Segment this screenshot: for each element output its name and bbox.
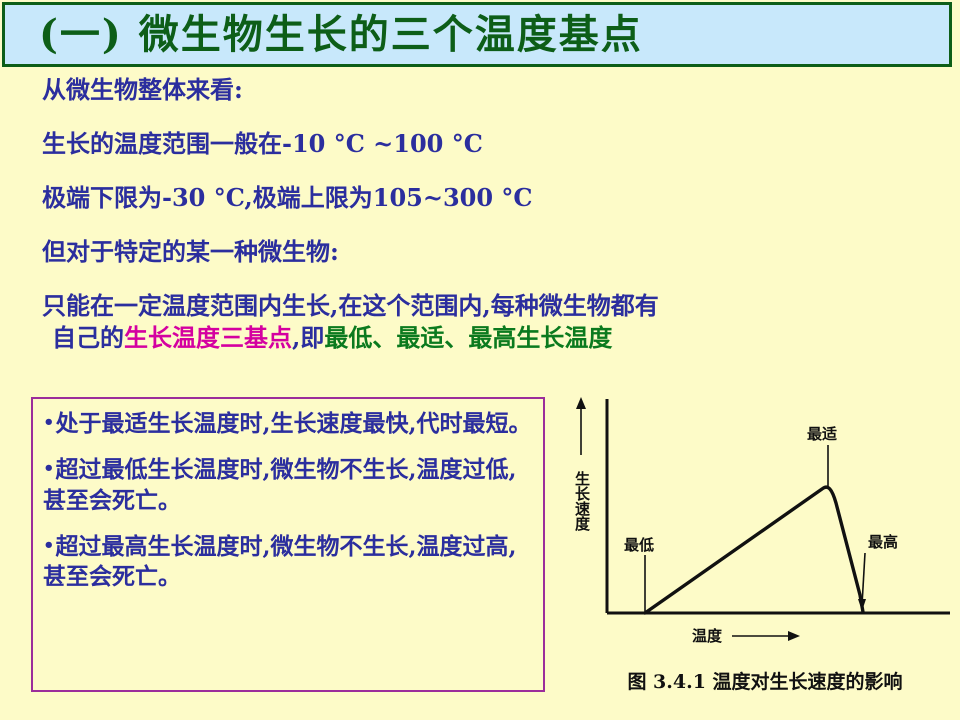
body-text-block: 从微生物整体来看: 生长的温度范围一般在-10 °C ~100 °C 极端下限为…	[42, 78, 942, 350]
y-axis-label: 生长速度	[573, 470, 591, 532]
body-line-5: 只能在一定温度范围内生长,在这个范围内,每种微生物都有	[42, 294, 942, 318]
bullet-item-1-text: 处于最适生长温度时,生长速度最快,代时最短。	[56, 410, 532, 437]
figure-caption: 图 3.4.1 温度对生长速度的影响	[575, 667, 955, 694]
x-axis-arrow-icon	[732, 631, 800, 641]
annotation-max-label: 最高	[868, 533, 898, 551]
slide-canvas: (一) 微生物生长的三个温度基点 从微生物整体来看: 生长的温度范围一般在-10…	[0, 0, 960, 720]
body-line-4: 但对于特定的某一种微生物:	[42, 240, 942, 264]
bullet-dot-icon: •	[43, 412, 55, 433]
body-line-1: 从微生物整体来看:	[42, 78, 942, 102]
bullet-item-2: •超过最低生长温度时,微生物不生长,温度过低,甚至会死亡。	[41, 455, 535, 516]
x-axis-label: 温度	[692, 627, 723, 645]
body-line-3: 极端下限为-30 °C,极端上限为105~300 °C	[42, 186, 942, 210]
annotation-opt-label: 最适	[807, 425, 837, 443]
body-line-6-keyword-min-opt-max: 最低、最适、最高生长温度	[324, 323, 612, 352]
bullet-dot-icon: •	[43, 458, 55, 479]
body-line-6-keyword-three-cardinal-points: 生长温度三基点	[124, 323, 292, 352]
y-axis-arrow-icon	[576, 397, 586, 455]
bullet-box: •处于最适生长温度时,生长速度最快,代时最短。 •超过最低生长温度时,微生物不生…	[31, 397, 545, 692]
bullet-item-3-text: 超过最高生长温度时,微生物不生长,温度过高,甚至会死亡。	[43, 533, 517, 590]
slide-title-bar: (一) 微生物生长的三个温度基点	[2, 2, 952, 67]
bullet-item-1: •处于最适生长温度时,生长速度最快,代时最短。	[41, 409, 535, 439]
figure-svg: 生长速度 最低 最适 最高 温度	[560, 395, 956, 665]
annotation-min-label: 最低	[624, 536, 654, 554]
growth-rate-temperature-figure: 生长速度 最低 最适 最高 温度 图 3.4.1 温度对生长速度的影响	[560, 395, 956, 715]
body-line-6: 自己的生长温度三基点,即最低、最适、最高生长温度	[52, 326, 942, 350]
growth-rate-curve	[645, 487, 863, 613]
bullet-item-3: •超过最高生长温度时,微生物不生长,温度过高,甚至会死亡。	[41, 532, 535, 593]
body-line-6-part3: ,即	[292, 323, 324, 352]
bullet-dot-icon: •	[43, 535, 55, 556]
body-line-6-part1: 自己的	[52, 323, 124, 352]
body-line-2: 生长的温度范围一般在-10 °C ~100 °C	[42, 132, 942, 156]
page-title: (一) 微生物生长的三个温度基点	[5, 15, 643, 55]
bullet-item-2-text: 超过最低生长温度时,微生物不生长,温度过低,甚至会死亡。	[43, 456, 517, 513]
